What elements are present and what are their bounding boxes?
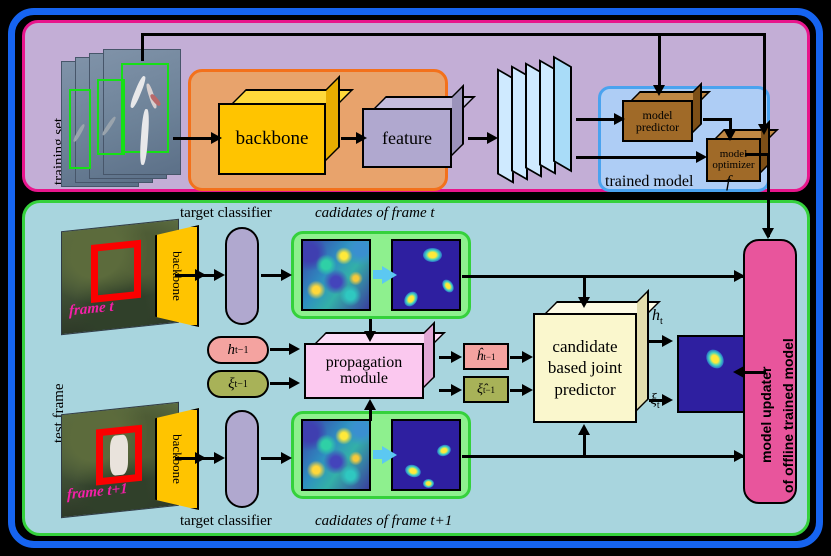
arrowhead [578,297,590,308]
rail-bottom-to-updater [462,455,744,458]
rail-to-optimizer [763,33,766,127]
arrowhead [281,269,292,281]
model-updater-line2: of offline trained model [780,338,796,493]
arrowhead [281,452,292,464]
model-optimizer-box: model optimizer [706,138,770,182]
cyan-arrow-top [382,266,397,284]
arrowhead [211,132,222,144]
cyan-arrow-bottom [382,446,397,464]
trained-model-label: trained model [605,173,693,191]
arrowhead [451,384,462,396]
trained-model-symbol: f [726,172,731,192]
arrowhead [451,351,462,363]
arrowhead [214,452,225,464]
arrowhead [662,394,673,406]
target-classifier-top [225,227,259,325]
training-backbone-box: backbone [218,103,340,175]
arrowhead [578,424,590,435]
state-xi-prev: ξt−1 [207,370,269,398]
state-h-hat-symbol: ĥ [476,349,483,365]
rail-trained-model-to-updater [767,153,770,237]
backbone-label: backbone [218,103,326,175]
state-xi-hat-prev: ξ̂t−1 [463,376,509,403]
diagram-canvas: training set backbone [0,0,831,556]
rail-top [141,33,766,36]
score-map-frame-t [301,239,371,311]
arrowhead [696,151,707,163]
arrow-cand-bottom-to-propagation [369,409,372,421]
arrowhead [522,384,533,396]
arrowhead [734,450,745,462]
propagation-line1: propagation [326,355,402,371]
arrowhead [289,377,300,389]
updater-arrowhead [762,228,774,239]
state-xi-prev-sub: t−1 [235,379,248,390]
propagation-module-box: propagation module [304,343,438,399]
rail-from-frames [141,33,144,61]
target-classifier-bottom [225,410,259,508]
state-h-prev-sub: t−1 [235,345,248,356]
arrow-stack-to-optimizer [576,156,700,159]
state-h-hat-sub: t−1 [483,352,495,362]
propagation-line2: module [340,371,388,387]
arrowhead [758,124,770,135]
rail-trained-model-horizontal [745,153,770,156]
arrowhead [356,132,367,144]
candidate-map-frame-t [391,239,461,311]
model-updater-line1: model updater [758,367,774,463]
joint-predictor-line2: based joint [548,357,622,378]
arrowhead [522,351,533,363]
state-h-prev-symbol: h [228,342,236,359]
candidates-frame-t-label: cadidates of frame t [315,205,435,222]
arrowhead [734,270,745,282]
joint-predictor-box: candidate based joint predictor [533,313,649,423]
ft-arrowhead [733,366,744,378]
training-panel: training set backbone [22,20,810,192]
ft-rail [744,371,766,374]
arrowhead [724,130,736,141]
target-classifier-top-label: target classifier [180,205,272,222]
target-classifier-bottom-label: target classifier [180,513,272,530]
arrow-predictor-to-optimizer [703,118,732,121]
output-h-t: ht [652,307,663,327]
training-feature-box: feature [362,108,467,168]
state-h-prev: ht−1 [207,336,269,364]
arrowhead [653,85,665,96]
arrowhead [289,343,300,355]
arrowhead [364,331,376,342]
arrowhead [487,132,498,144]
joint-predictor-line3: predictor [554,379,615,400]
arrowhead [214,269,225,281]
joint-predictor-line1: candidate [552,336,617,357]
arrowhead [662,335,673,347]
arrowhead [614,113,625,125]
rail-top-to-updater [462,275,744,278]
connector [583,275,586,299]
model-predictor-box: model predictor [622,100,702,142]
test-panel: test frame frame t backbone target class… [22,200,810,536]
rail-to-predictor [658,33,661,87]
model-optimizer-line2: optimizer [712,160,754,171]
arrow-frames-to-backbone [173,137,213,140]
arrowhead [364,399,376,410]
state-xi-hat-sub: t−1 [483,385,495,395]
candidates-frame-t1-label: cadidates of frame t+1 [315,513,452,530]
candidate-map-frame-t1 [391,419,461,491]
score-map-frame-t1 [301,419,371,491]
state-h-hat-prev: ĥt−1 [463,343,509,370]
arrow-stack-to-predictor [576,118,618,121]
model-predictor-line2: predictor [636,121,679,133]
feature-label: feature [362,108,452,168]
